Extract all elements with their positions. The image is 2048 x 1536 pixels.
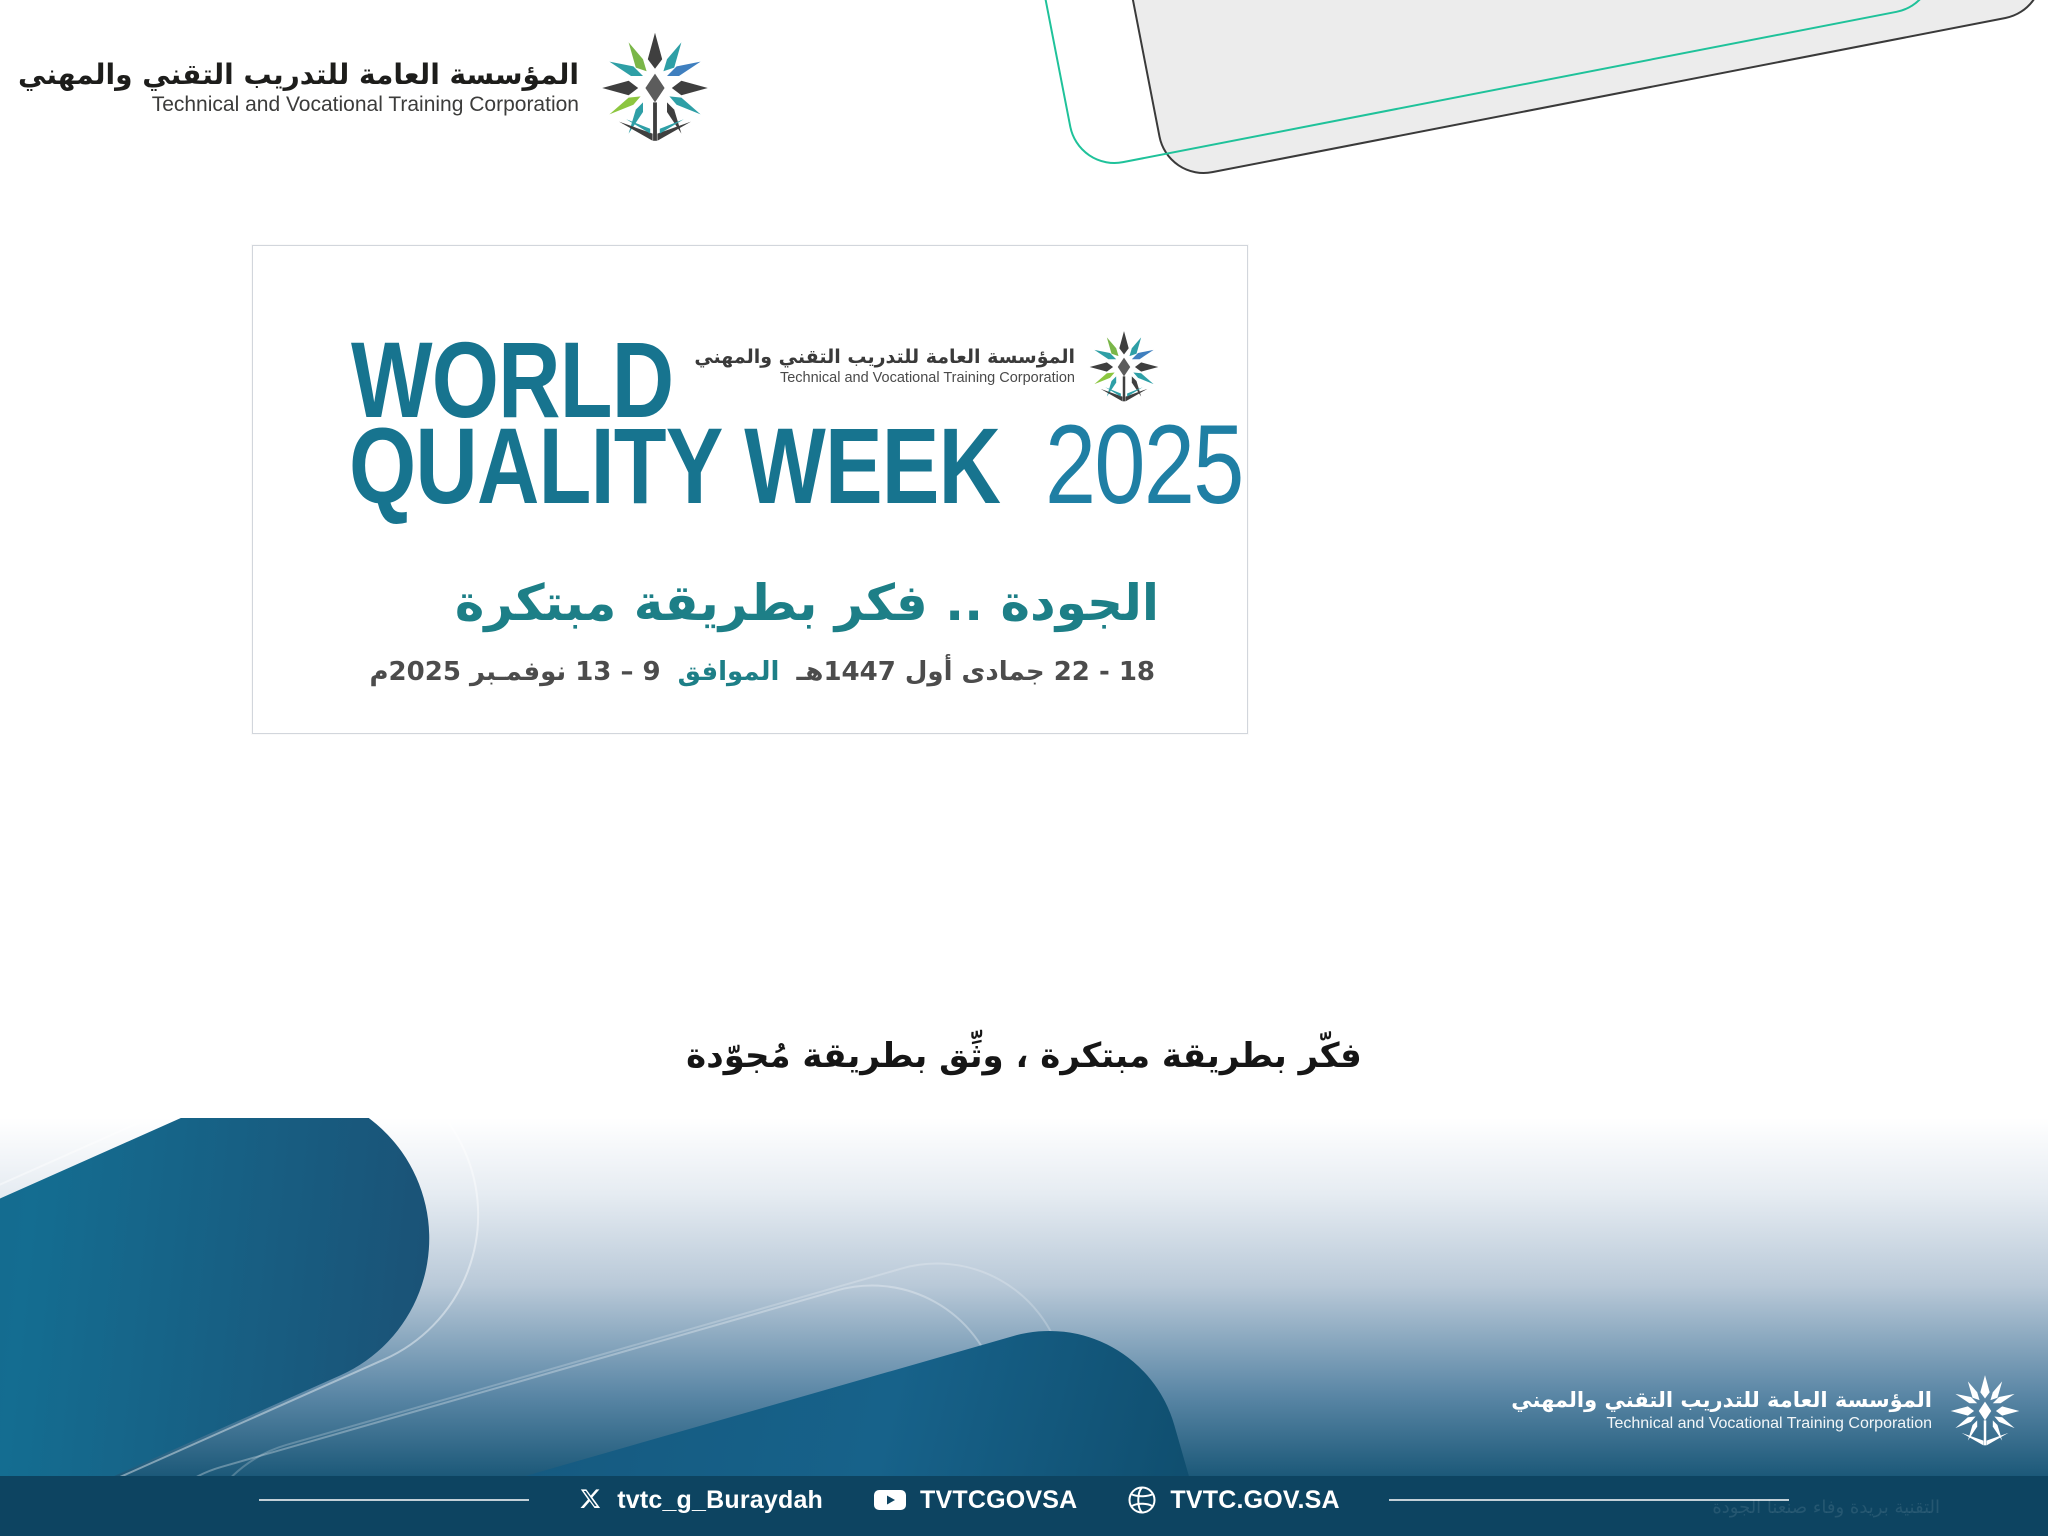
- banner-logo-english: Technical and Vocational Training Corpor…: [694, 371, 1075, 387]
- banner-date-connector: الموافق: [678, 657, 780, 687]
- slide-caption: فكّر بطريقة مبتكرة ، وثِّق بطريقة مُجوّد…: [0, 1036, 2048, 1076]
- banner-content: WORLD المؤسسة العامة للتدريب التقني والم…: [253, 246, 1247, 733]
- tvtc-palm-star-icon: [1946, 1372, 2024, 1450]
- banner-title-row2: QUALITY WEEK 2025: [349, 416, 1248, 515]
- footer-logo-arabic: المؤسسة العامة للتدريب التقني والمهني: [1511, 1389, 1932, 1412]
- presentation-slide: المؤسسة العامة للتدريب التقني والمهني Te…: [0, 0, 2048, 1536]
- header-logo: المؤسسة العامة للتدريب التقني والمهني Te…: [18, 28, 715, 148]
- footer-logo-text: المؤسسة العامة للتدريب التقني والمهني Te…: [1511, 1389, 1932, 1433]
- header-logo-arabic: المؤسسة العامة للتدريب التقني والمهني: [18, 60, 579, 90]
- social-item-youtube[interactable]: TVTCGOVSA: [873, 1486, 1077, 1515]
- youtube-icon: [873, 1487, 907, 1513]
- banner-date-hijri: 18 - 22 جمادى أول 1447هـ: [797, 657, 1155, 687]
- divider-right: [1389, 1499, 1789, 1501]
- social-label-youtube: TVTCGOVSA: [920, 1486, 1077, 1515]
- banner-dates: 18 - 22 جمادى أول 1447هـ الموافق 9 – 13 …: [369, 658, 1155, 687]
- social-label-website: TVTC.GOV.SA: [1170, 1486, 1339, 1515]
- banner-top-row: WORLD المؤسسة العامة للتدريب التقني والم…: [305, 286, 1195, 398]
- banner-logo: المؤسسة العامة للتدريب التقني والمهني Te…: [694, 328, 1163, 406]
- tvtc-palm-star-icon: [1085, 328, 1163, 406]
- slide-footer: المؤسسة العامة للتدريب التقني والمهني Te…: [0, 1118, 2048, 1536]
- footer-logo-english: Technical and Vocational Training Corpor…: [1511, 1415, 1932, 1433]
- banner-logo-arabic: المؤسسة العامة للتدريب التقني والمهني: [694, 347, 1075, 368]
- header-logo-english: Technical and Vocational Training Corpor…: [18, 94, 579, 117]
- decorative-cards-top-right: [868, 0, 2048, 180]
- banner-tagline-arabic: الجودة .. فكر بطريقة مبتكرة: [455, 576, 1159, 631]
- social-item-x[interactable]: tvtc_g_Buraydah: [578, 1486, 823, 1515]
- tvtc-palm-star-icon: [595, 28, 715, 148]
- divider-left: [259, 1499, 529, 1501]
- banner-date-gregorian: 9 – 13 نوفمـبر 2025م: [369, 657, 660, 687]
- banner-logo-text: المؤسسة العامة للتدريب التقني والمهني Te…: [694, 347, 1075, 386]
- footer-logo: المؤسسة العامة للتدريب التقني والمهني Te…: [1511, 1372, 2024, 1450]
- world-quality-week-banner[interactable]: WORLD المؤسسة العامة للتدريب التقني والم…: [252, 245, 1248, 734]
- header-logo-text: المؤسسة العامة للتدريب التقني والمهني Te…: [18, 60, 579, 117]
- banner-year: 2025: [1045, 416, 1243, 515]
- x-twitter-icon: [578, 1487, 604, 1513]
- decorative-card-teal-outline: [994, 0, 1942, 172]
- footer-social-strip: tvtc_g_Buraydah TVTCGOVSA: [0, 1478, 2048, 1522]
- banner-title-line2: QUALITY WEEK: [349, 418, 1000, 513]
- social-label-x: tvtc_g_Buraydah: [617, 1486, 823, 1515]
- globe-website-icon: [1127, 1485, 1157, 1515]
- social-item-website[interactable]: TVTC.GOV.SA: [1127, 1485, 1339, 1515]
